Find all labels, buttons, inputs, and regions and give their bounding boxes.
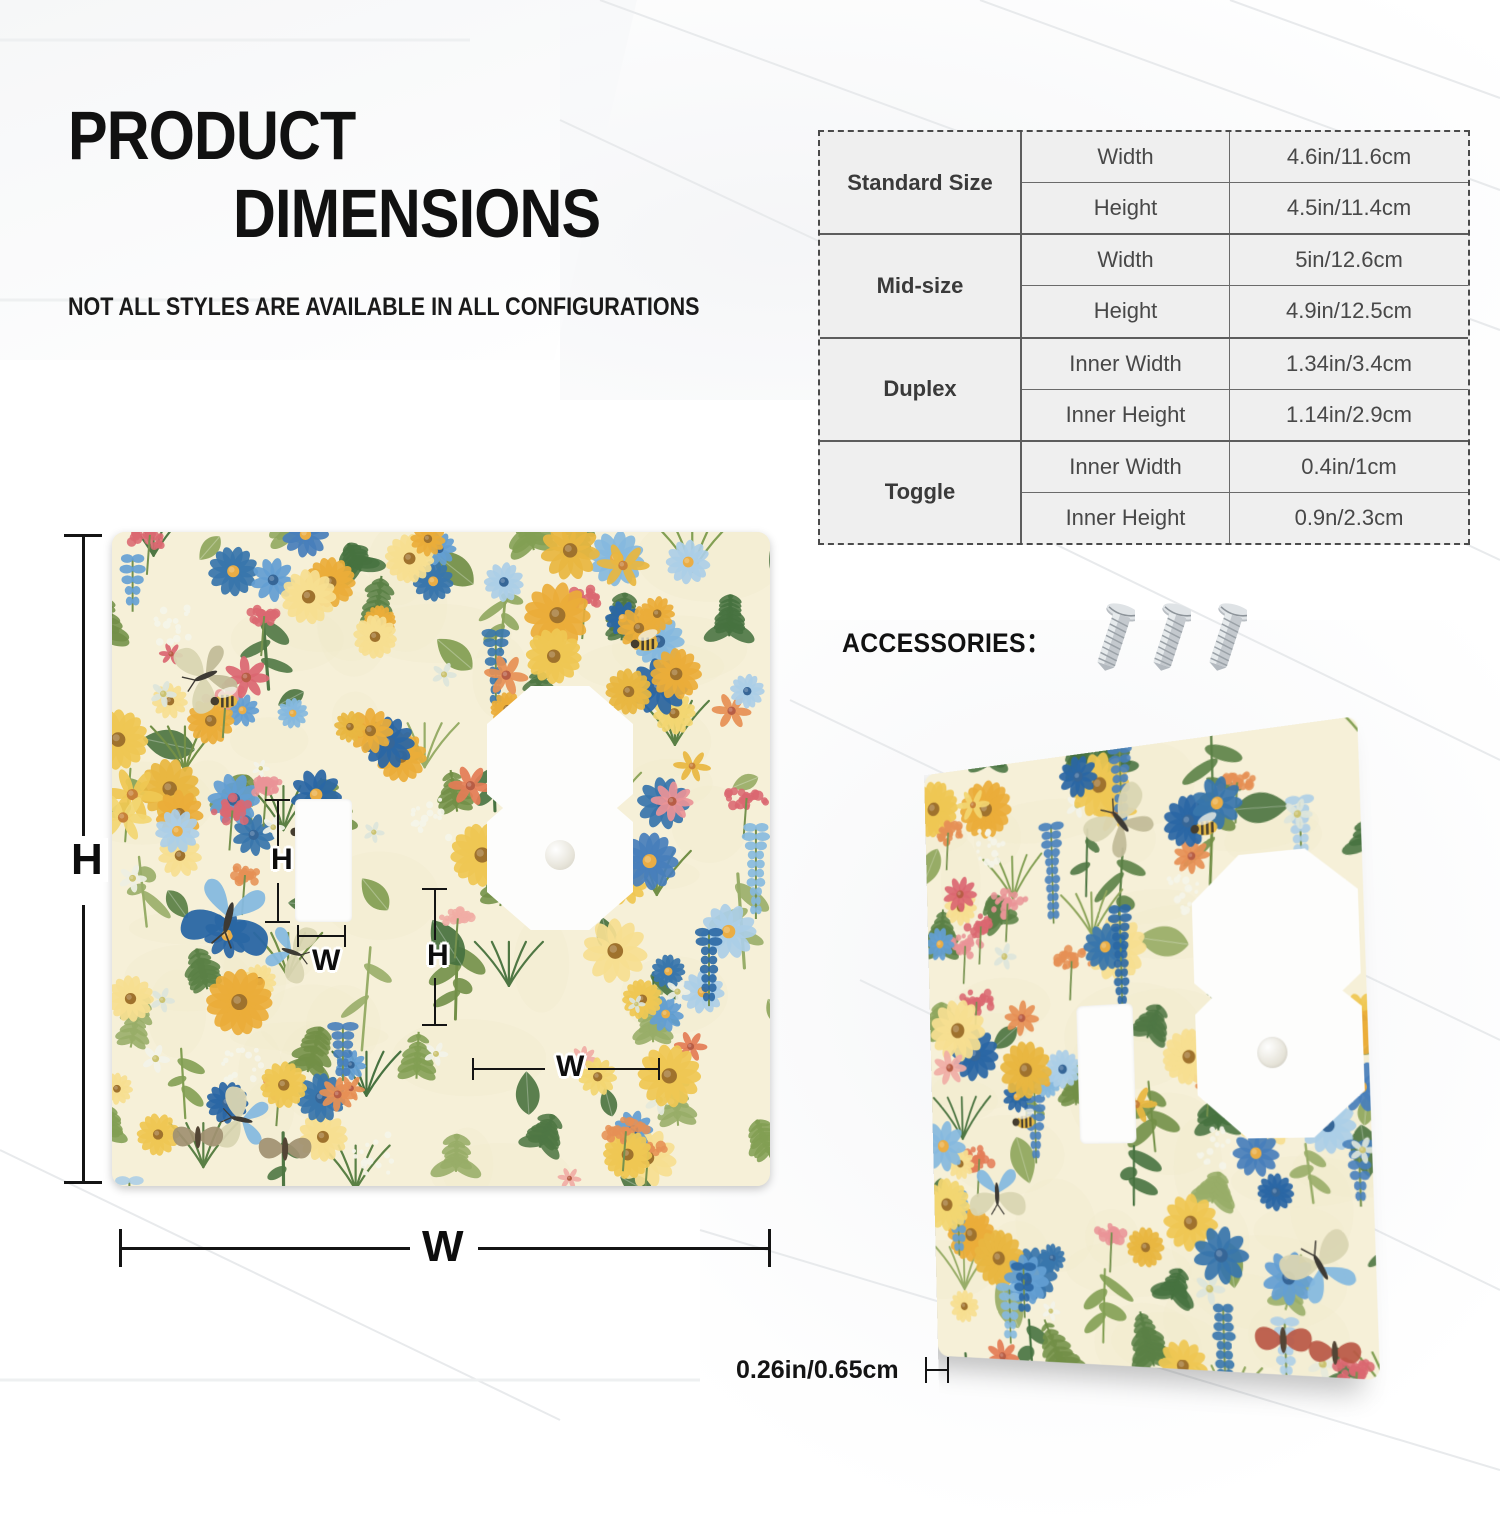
mounting-screw-icon [1205, 600, 1247, 680]
table-row: Width 5in/12.6cm [1022, 235, 1468, 286]
spec-label: Inner Height [1022, 493, 1230, 543]
accessories-label: ACCESSORIES： [842, 621, 1051, 660]
group-name: Toggle [820, 442, 1022, 543]
table-row: Height 4.5in/11.4cm [1022, 183, 1468, 233]
spec-label: Inner Width [1022, 442, 1230, 492]
table-row: Inner Width 1.34in/3.4cm [1022, 339, 1468, 390]
floral-pattern-angled [924, 716, 1380, 1380]
table-row: Height 4.9in/12.5cm [1022, 286, 1468, 336]
toggle-switch-cutout-angled [1076, 1003, 1136, 1144]
label-thickness: 0.26in/0.65cm [736, 1356, 899, 1385]
table-row-group: Standard Size Width 4.6in/11.6cm Height … [820, 132, 1468, 235]
spec-label: Inner Height [1022, 390, 1230, 440]
spec-label: Height [1022, 286, 1230, 336]
table-row: Inner Height 1.14in/2.9cm [1022, 390, 1468, 440]
spec-value: 0.4in/1cm [1230, 442, 1468, 492]
table-row-group: Duplex Inner Width 1.34in/3.4cm Inner He… [820, 339, 1468, 442]
wall-plate-angled-view [900, 745, 1370, 1365]
table-row-group: Toggle Inner Width 0.4in/1cm Inner Heigh… [820, 442, 1468, 543]
floral-pattern [112, 532, 770, 1186]
spec-value: 4.9in/12.5cm [1230, 286, 1468, 336]
subtitle: NOT ALL STYLES ARE AVAILABLE IN ALL CONF… [68, 293, 699, 322]
mounting-screw-icon [1149, 600, 1191, 680]
spec-value: 4.6in/11.6cm [1230, 132, 1468, 182]
spec-value: 0.9n/2.3cm [1230, 493, 1468, 543]
title-line-1: PRODUCT [68, 104, 687, 167]
specification-table: Standard Size Width 4.6in/11.6cm Height … [818, 130, 1470, 545]
group-name: Duplex [820, 339, 1022, 440]
spec-label: Width [1022, 132, 1230, 182]
title-line-2: DIMENSIONS [233, 182, 710, 245]
wall-plate-front-view [112, 532, 770, 1186]
spec-value: 1.14in/2.9cm [1230, 390, 1468, 440]
group-name: Mid-size [820, 235, 1022, 336]
page-title: PRODUCT DIMENSIONS [68, 104, 788, 246]
table-row-group: Mid-size Width 5in/12.6cm Height 4.9in/1… [820, 235, 1468, 338]
accessories-section: ACCESSORIES： [842, 600, 1247, 680]
mounting-screw-icon [1093, 600, 1135, 680]
table-row: Width 4.6in/11.6cm [1022, 132, 1468, 183]
table-row: Inner Height 0.9n/2.3cm [1022, 493, 1468, 543]
spec-label: Height [1022, 183, 1230, 233]
spec-value: 4.5in/11.4cm [1230, 183, 1468, 233]
spec-value: 5in/12.6cm [1230, 235, 1468, 285]
screw-group [1093, 600, 1247, 680]
table-row: Inner Width 0.4in/1cm [1022, 442, 1468, 493]
center-screw-hole [545, 840, 575, 870]
spec-label: Width [1022, 235, 1230, 285]
toggle-switch-cutout [295, 799, 352, 922]
group-name: Standard Size [820, 132, 1022, 233]
spec-label: Inner Width [1022, 339, 1230, 389]
spec-value: 1.34in/3.4cm [1230, 339, 1468, 389]
